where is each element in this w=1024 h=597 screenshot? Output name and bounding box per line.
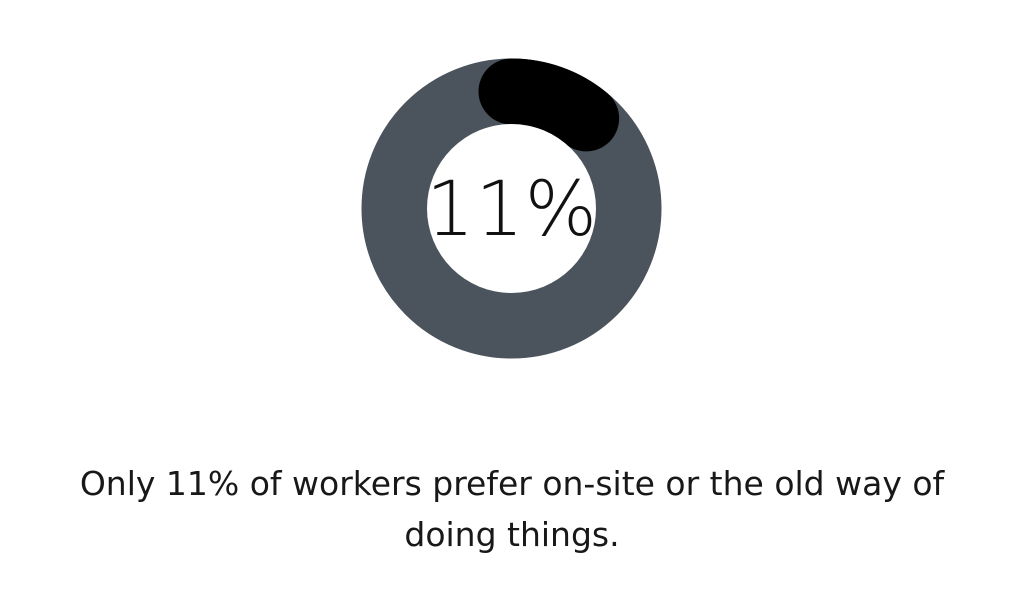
donut-chart: 11% — [0, 0, 1024, 420]
chart-caption: Only 11% of workers prefer on-site or th… — [32, 458, 992, 560]
donut-chart-svg — [361, 58, 662, 359]
donut-hole — [427, 124, 596, 293]
slide-canvas: 11% Only 11% of workers prefer on-site o… — [0, 0, 1024, 597]
